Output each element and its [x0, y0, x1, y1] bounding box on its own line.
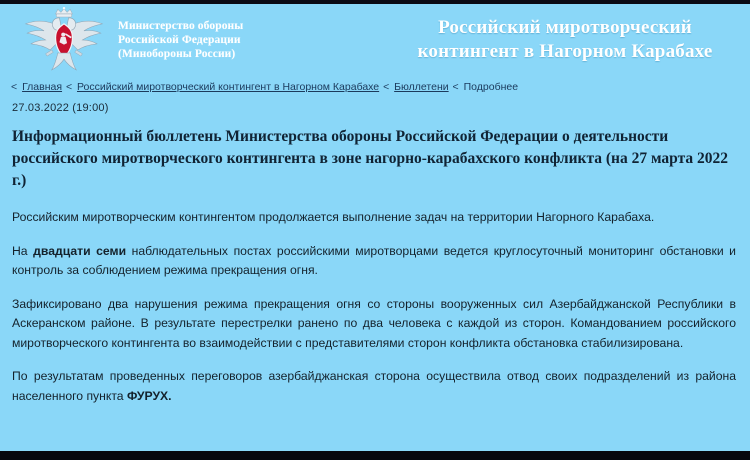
breadcrumb-item-4: Подробнее [464, 81, 518, 93]
article-title: Информационный бюллетень Министерства об… [12, 126, 736, 192]
emphasis-text: двадцати семи [33, 244, 126, 258]
article-paragraph-p2: На двадцати семи наблюдательных постах р… [12, 242, 736, 281]
body-text: Зафиксировано два нарушения режима прекр… [12, 297, 736, 350]
site-title-line-2: контингент в Нагорном Карабахе [390, 40, 740, 64]
page-root: Министерство обороны Российской Федераци… [0, 0, 750, 460]
emphasis-text: ФУРУХ. [127, 389, 172, 403]
body-text: Российским миротворческим контингентом п… [12, 210, 654, 224]
site-header: Министерство обороны Российской Федераци… [0, 4, 750, 76]
breadcrumb-separator: < [453, 81, 462, 93]
breadcrumb-item-3[interactable]: Бюллетени [394, 81, 448, 93]
site-title: Российский миротворческий контингент в Н… [390, 16, 750, 65]
bottom-divider [0, 451, 750, 460]
breadcrumb-separator: < [383, 81, 392, 93]
site-title-line-1: Российский миротворческий [390, 16, 740, 40]
article-body: Российским миротворческим контингентом п… [10, 208, 740, 406]
body-text: На [12, 244, 33, 258]
ministry-line-3: (Минобороны России) [118, 47, 243, 61]
russian-mod-eagle-emblem [18, 7, 110, 73]
article-paragraph-p3: Зафиксировано два нарушения режима прекр… [12, 295, 736, 354]
body-text: По результатам проведенных переговоров а… [12, 369, 736, 403]
ministry-line-1: Министерство обороны [118, 19, 243, 33]
ministry-line-2: Российской Федерации [118, 33, 243, 47]
article: 27.03.2022 (19:00) Информационный бюллет… [10, 102, 740, 420]
article-paragraph-p1: Российским миротворческим контингентом п… [12, 208, 736, 228]
publication-date: 27.03.2022 (19:00) [12, 102, 740, 114]
ministry-name: Министерство обороны Российской Федераци… [118, 19, 243, 61]
breadcrumb-item-1[interactable]: Главная [22, 81, 62, 93]
breadcrumb-separator: < [66, 81, 75, 93]
breadcrumb: < Главная < Российский миротворческий ко… [10, 80, 740, 94]
breadcrumb-separator: < [11, 81, 20, 93]
article-paragraph-p4: По результатам проведенных переговоров а… [12, 367, 736, 406]
breadcrumb-item-2[interactable]: Российский миротворческий контингент в Н… [77, 81, 379, 93]
brand-block[interactable]: Министерство обороны Российской Федераци… [0, 7, 390, 73]
